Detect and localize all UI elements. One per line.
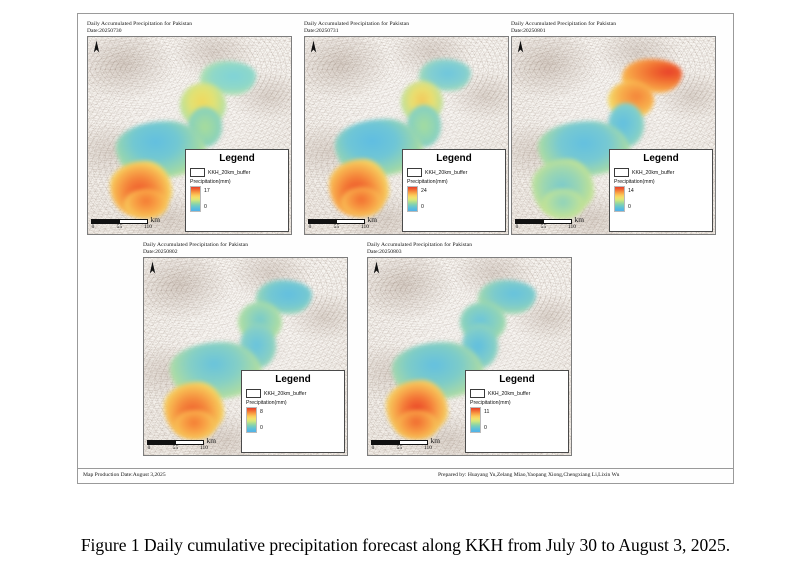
north-arrow-icon [516, 40, 525, 54]
map-panel-2: Daily Accumulated Precipitation for Paki… [304, 21, 509, 235]
north-arrow-icon [309, 40, 318, 54]
scale-bar-unit: km [207, 437, 216, 444]
prepared-by: Prepared by: Huayang Yu,Zelang Miao,Yaop… [438, 471, 619, 479]
map-panel-1: Daily Accumulated Precipitation for Paki… [87, 21, 292, 235]
scale-bar-ticks: 0 55 110 [308, 224, 365, 231]
map-canvas[interactable]: km 0 55 110 Legend KKH_20km_buffer Preci… [143, 257, 348, 456]
legend-title: Legend [614, 153, 708, 165]
legend-buffer-label: KKH_20km_buffer [488, 391, 530, 397]
panel-date: Date:20250731 [304, 28, 509, 35]
buffer-swatch [190, 168, 205, 177]
scale-bar: km 0 55 110 [91, 216, 165, 231]
panel-title: Daily Accumulated Precipitation for Paki… [511, 21, 721, 28]
legend-title: Legend [190, 153, 284, 165]
panel-title: Daily Accumulated Precipitation for Paki… [87, 21, 292, 28]
legend-box: Legend KKH_20km_buffer Precipitation(mm)… [241, 370, 345, 453]
map-canvas[interactable]: km 0 55 110 Legend KKH_20km_buffer Preci… [511, 36, 716, 235]
legend-buffer-label: KKH_20km_buffer [264, 391, 306, 397]
legend-buffer-row: KKH_20km_buffer [407, 168, 501, 177]
panel-date: Date:20250803 [367, 249, 572, 256]
colorramp-max: 11 [484, 409, 489, 415]
colorramp-values: 24 0 [421, 186, 443, 212]
panel-title: Daily Accumulated Precipitation for Paki… [304, 21, 509, 28]
map-canvas[interactable]: km 0 55 110 Legend KKH_20km_buffer Preci… [304, 36, 509, 235]
figure-caption: Figure 1 Daily cumulative precipitation … [0, 533, 811, 557]
panel-date: Date:20250802 [143, 249, 348, 256]
scale-bar-ticks: 0 55 110 [91, 224, 148, 231]
map-production-date: Map Production Date:August 3,2025 [83, 471, 166, 479]
scale-bar: km 0 55 110 [308, 216, 382, 231]
scale-bar: km 0 55 110 [147, 437, 221, 452]
colorramp-min: 0 [204, 204, 207, 210]
scale-bar: km 0 55 110 [371, 437, 445, 452]
legend-colorramp: 24 0 [407, 186, 501, 212]
colorramp-gradient [614, 186, 625, 212]
buffer-swatch [470, 389, 485, 398]
legend-buffer-label: KKH_20km_buffer [425, 170, 467, 176]
scale-bar-segments [515, 219, 572, 224]
legend-colorramp: 8 0 [246, 407, 340, 433]
legend-box: Legend KKH_20km_buffer Precipitation(mm)… [609, 149, 713, 232]
buffer-swatch [246, 389, 261, 398]
figure-footer: Map Production Date:August 3,2025 Prepar… [78, 468, 733, 483]
scale-bar-ticks: 0 55 110 [147, 445, 204, 452]
legend-ramp-label: Precipitation(mm) [190, 179, 284, 185]
legend-box: Legend KKH_20km_buffer Precipitation(mm)… [402, 149, 506, 232]
map-panel-3: Daily Accumulated Precipitation for Paki… [511, 21, 721, 235]
colorramp-max: 17 [204, 188, 210, 194]
colorramp-min: 0 [628, 204, 631, 210]
legend-colorramp: 17 0 [190, 186, 284, 212]
legend-buffer-row: KKH_20km_buffer [614, 168, 708, 177]
legend-ramp-label: Precipitation(mm) [470, 400, 564, 406]
north-arrow-icon [148, 261, 157, 275]
colorramp-values: 14 0 [628, 186, 650, 212]
scale-bar-segments [147, 440, 204, 445]
figure-frame: Daily Accumulated Precipitation for Paki… [77, 13, 734, 484]
colorramp-gradient [407, 186, 418, 212]
legend-buffer-row: KKH_20km_buffer [246, 389, 340, 398]
colorramp-max: 24 [421, 188, 427, 194]
colorramp-gradient [470, 407, 481, 433]
colorramp-gradient [190, 186, 201, 212]
legend-ramp-label: Precipitation(mm) [407, 179, 501, 185]
legend-ramp-label: Precipitation(mm) [246, 400, 340, 406]
map-panel-5: Daily Accumulated Precipitation for Paki… [367, 242, 572, 456]
panel-title: Daily Accumulated Precipitation for Paki… [367, 242, 572, 249]
colorramp-min: 0 [484, 425, 487, 431]
legend-title: Legend [470, 374, 564, 386]
buffer-swatch [614, 168, 629, 177]
legend-colorramp: 11 0 [470, 407, 564, 433]
scale-bar-unit: km [151, 216, 160, 223]
legend-title: Legend [407, 153, 501, 165]
legend-colorramp: 14 0 [614, 186, 708, 212]
panel-date: Date:20250730 [87, 28, 292, 35]
buffer-swatch [407, 168, 422, 177]
legend-box: Legend KKH_20km_buffer Precipitation(mm)… [185, 149, 289, 232]
map-canvas[interactable]: km 0 55 110 Legend KKH_20km_buffer Preci… [367, 257, 572, 456]
legend-box: Legend KKH_20km_buffer Precipitation(mm)… [465, 370, 569, 453]
north-arrow-icon [92, 40, 101, 54]
legend-buffer-row: KKH_20km_buffer [190, 168, 284, 177]
colorramp-values: 17 0 [204, 186, 226, 212]
colorramp-values: 11 0 [484, 407, 506, 433]
scale-bar-unit: km [575, 216, 584, 223]
map-panel-4: Daily Accumulated Precipitation for Paki… [143, 242, 348, 456]
legend-buffer-row: KKH_20km_buffer [470, 389, 564, 398]
panel-title: Daily Accumulated Precipitation for Paki… [143, 242, 348, 249]
legend-buffer-label: KKH_20km_buffer [208, 170, 250, 176]
colorramp-values: 8 0 [260, 407, 282, 433]
panel-date: Date:20250801 [511, 28, 721, 35]
scale-bar-segments [371, 440, 428, 445]
colorramp-max: 8 [260, 409, 263, 415]
map-canvas[interactable]: km 0 55 110 Legend KKH_20km_buffer Preci… [87, 36, 292, 235]
legend-buffer-label: KKH_20km_buffer [632, 170, 674, 176]
north-arrow-icon [372, 261, 381, 275]
scale-bar-unit: km [431, 437, 440, 444]
legend-ramp-label: Precipitation(mm) [614, 179, 708, 185]
scale-bar-segments [308, 219, 365, 224]
scale-bar-ticks: 0 55 110 [371, 445, 428, 452]
colorramp-gradient [246, 407, 257, 433]
scale-bar-ticks: 0 55 110 [515, 224, 572, 231]
scale-bar: km 0 55 110 [515, 216, 589, 231]
colorramp-max: 14 [628, 188, 634, 194]
colorramp-min: 0 [260, 425, 263, 431]
scale-bar-unit: km [368, 216, 377, 223]
scale-bar-segments [91, 219, 148, 224]
colorramp-min: 0 [421, 204, 424, 210]
legend-title: Legend [246, 374, 340, 386]
